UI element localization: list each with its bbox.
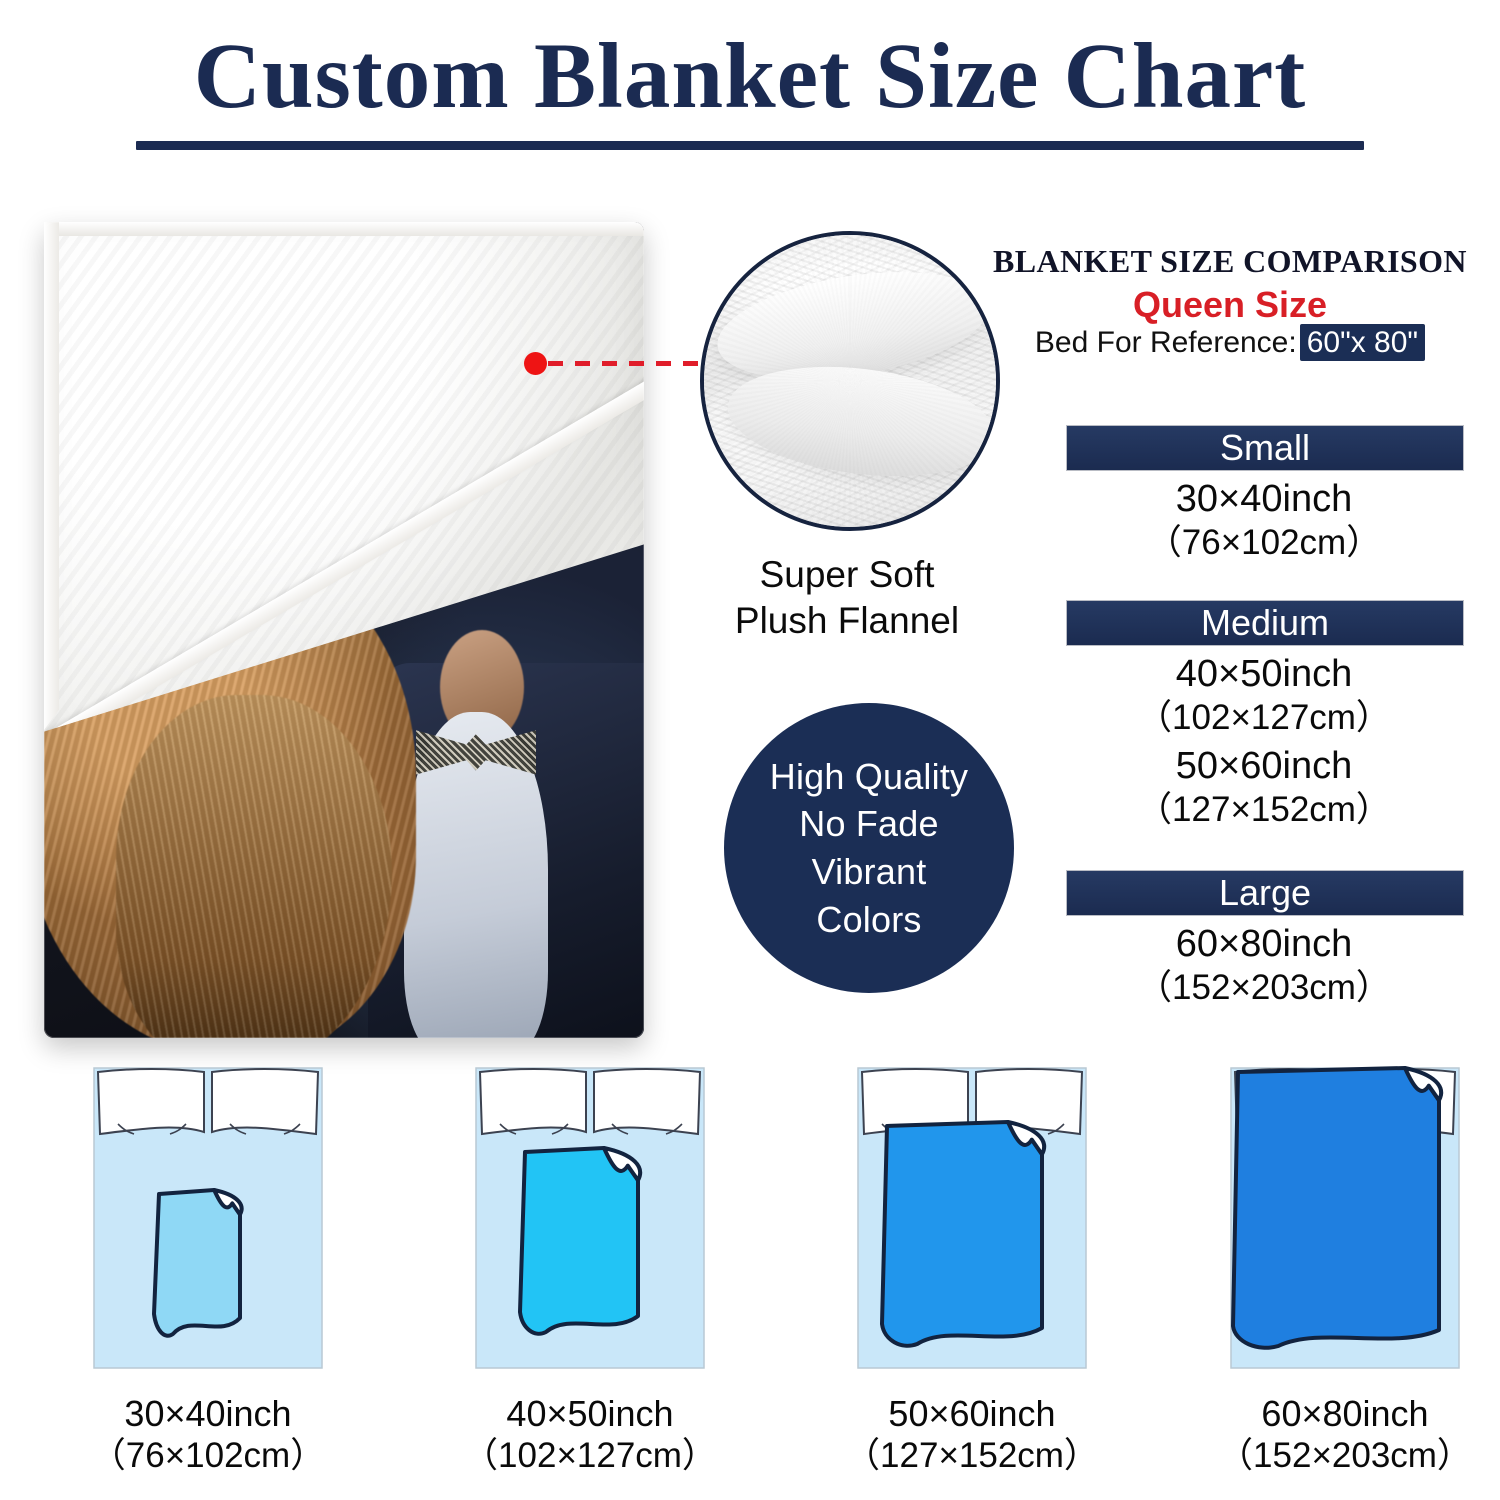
bed-reference-prefix: Bed For Reference: [1035,326,1297,359]
bed-illustration-2 [430,1062,750,1382]
product-photo-blanket [38,212,648,1042]
bed-label-cm: （102×127cm） [430,1435,750,1477]
size-value-inch: 60×80inch [1066,922,1462,967]
blanket-shape [520,1148,638,1334]
bed-svg [430,1062,750,1382]
bed-illustration-3 [812,1062,1132,1382]
bed-label-inch: 40×50inch [430,1392,750,1435]
bed-label-inch: 50×60inch [812,1392,1132,1435]
bed-reference-badge: 60"x 80" [1300,324,1425,361]
pillow-right [212,1069,318,1134]
comparison-heading: BLANKET SIZE COMPARISON [980,243,1480,280]
plush-reverse-fold [44,222,644,742]
blanket-left-hem [44,222,59,730]
bed-label-2: 40×50inch（102×127cm） [430,1392,750,1477]
bed-label-cm: （152×203cm） [1185,1435,1500,1477]
queen-size-label: Queen Size [980,284,1480,326]
fold-hem [44,222,644,742]
size-value-medium-1: 40×50inch（102×127cm） [1066,652,1462,738]
bed-reference-line: Bed For Reference:60"x 80" [980,326,1480,360]
bed-label-inch: 60×80inch [1185,1392,1500,1435]
quality-badge-text: High Quality No Fade Vibrant Colors [770,753,968,943]
size-value-cm: （152×203cm） [1066,967,1462,1008]
size-value-inch: 40×50inch [1066,652,1462,697]
size-bar-small: Small [1066,425,1464,471]
size-value-inch: 30×40inch [1066,477,1462,522]
plush-fabric-closeup [700,231,1000,531]
pillow-left [480,1069,586,1134]
size-value-medium-2: 50×60inch（127×152cm） [1066,744,1462,830]
blanket-shape [154,1190,240,1336]
bed-label-inch: 30×40inch [48,1392,368,1435]
bed-label-cm: （76×102cm） [48,1435,368,1477]
size-value-inch: 50×60inch [1066,744,1462,789]
size-value-cm: （102×127cm） [1066,697,1462,738]
bed-label-cm: （127×152cm） [812,1435,1132,1477]
size-value-cm: （76×102cm） [1066,522,1462,563]
page-title: Custom Blanket Size Chart [0,28,1500,126]
blanket-top-hem [44,222,644,236]
size-bar-label: Medium [1201,605,1329,641]
plush-caption: Super Soft Plush Flannel [672,552,1022,645]
size-value-large-1: 60×80inch（152×203cm） [1066,922,1462,1008]
bed-svg [1185,1062,1500,1382]
bed-label-3: 50×60inch（127×152cm） [812,1392,1132,1477]
quality-badge-circle: High Quality No Fade Vibrant Colors [724,703,1014,993]
bed-illustration-1 [48,1062,368,1382]
callout-dashed-line [548,361,700,366]
bed-illustration-4 [1185,1062,1500,1382]
bed-svg [48,1062,368,1382]
bed-label-4: 60×80inch（152×203cm） [1185,1392,1500,1477]
size-value-small-1: 30×40inch（76×102cm） [1066,477,1462,563]
blanket-shape [882,1122,1042,1346]
bed-label-1: 30×40inch（76×102cm） [48,1392,368,1477]
pillow-right [594,1069,700,1134]
blanket-size-chart-infographic: Custom Blanket Size Chart Su [0,0,1500,1500]
blanket-shape [1233,1068,1439,1348]
title-underline [136,141,1364,150]
size-bar-label: Small [1220,430,1310,466]
photo-bride-hair-curls [116,695,392,1038]
size-value-cm: （127×152cm） [1066,789,1462,830]
size-bar-medium: Medium [1066,600,1464,646]
bed-svg [812,1062,1132,1382]
plush-fuzz-overlay [704,235,996,527]
size-bar-label: Large [1219,875,1311,911]
pillow-left [98,1069,204,1134]
size-bar-large: Large [1066,870,1464,916]
callout-dot-icon [524,352,547,375]
